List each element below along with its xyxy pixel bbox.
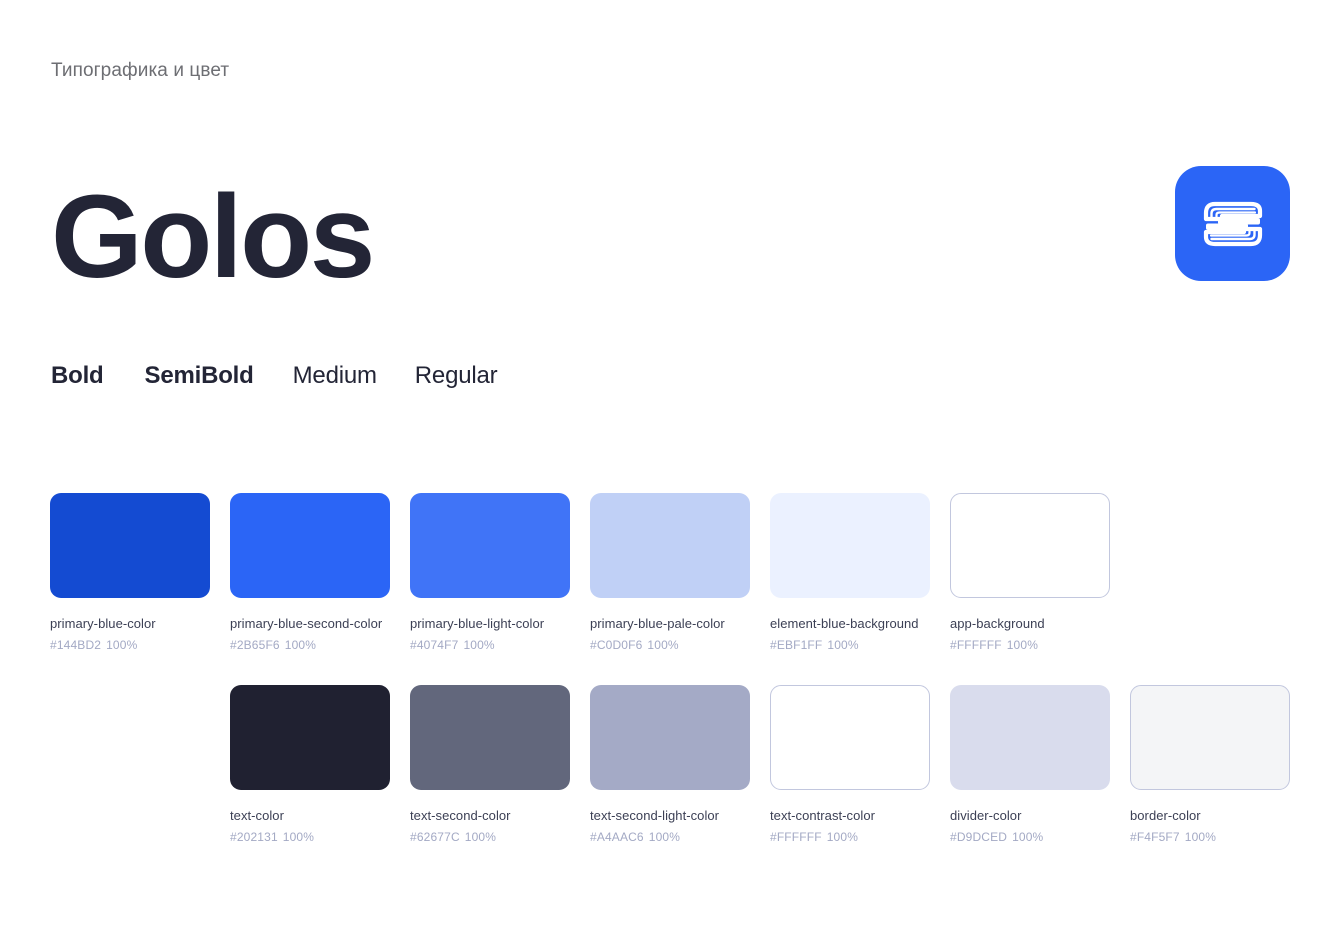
- color-swatch[interactable]: divider-color#D9DCED100%: [950, 685, 1110, 844]
- color-palette: primary-blue-color#144BD2100%primary-blu…: [0, 0, 1340, 925]
- swatch-hex-value: #FFFFFF: [770, 830, 822, 844]
- swatch-hex-and-opacity: #144BD2100%: [50, 638, 210, 652]
- swatch-opacity-value: 100%: [1007, 638, 1038, 652]
- swatch-token-name: app-background: [950, 616, 1110, 631]
- swatch-color-chip[interactable]: [590, 685, 750, 790]
- swatch-token-name: primary-blue-color: [50, 616, 210, 631]
- swatch-color-chip[interactable]: [410, 493, 570, 598]
- color-swatch[interactable]: primary-blue-color#144BD2100%: [50, 493, 210, 652]
- swatch-token-name: element-blue-background: [770, 616, 930, 631]
- swatch-hex-value: #F4F5F7: [1130, 830, 1180, 844]
- swatch-opacity-value: 100%: [465, 830, 496, 844]
- color-swatch[interactable]: text-contrast-color#FFFFFF100%: [770, 685, 930, 844]
- font-weight-regular: Regular: [415, 362, 498, 390]
- swatch-opacity-value: 100%: [647, 638, 678, 652]
- swatch-token-name: text-color: [230, 808, 390, 823]
- swatch-color-chip[interactable]: [410, 685, 570, 790]
- color-swatch[interactable]: text-second-light-color#A4AAC6100%: [590, 685, 750, 844]
- swatch-hex-value: #C0D0F6: [590, 638, 642, 652]
- swatch-color-chip[interactable]: [230, 493, 390, 598]
- swatch-opacity-value: 100%: [283, 830, 314, 844]
- swatch-hex-value: #2B65F6: [230, 638, 280, 652]
- color-swatch[interactable]: primary-blue-light-color#4074F7100%: [410, 493, 570, 652]
- swatch-hex-value: #144BD2: [50, 638, 101, 652]
- swatch-opacity-value: 100%: [1012, 830, 1043, 844]
- swatch-opacity-value: 100%: [463, 638, 494, 652]
- color-swatch[interactable]: primary-blue-pale-color#C0D0F6100%: [590, 493, 750, 652]
- swatch-token-name: primary-blue-light-color: [410, 616, 570, 631]
- swatch-hex-and-opacity: #A4AAC6100%: [590, 830, 750, 844]
- swatch-color-chip[interactable]: [950, 493, 1110, 598]
- swatch-token-name: divider-color: [950, 808, 1110, 823]
- swatch-hex-and-opacity: #EBF1FF100%: [770, 638, 930, 652]
- swatch-hex-and-opacity: #202131100%: [230, 830, 390, 844]
- swatch-hex-and-opacity: #C0D0F6100%: [590, 638, 750, 652]
- color-swatch[interactable]: border-color#F4F5F7100%: [1130, 685, 1290, 844]
- font-specimen-name: Golos: [51, 178, 373, 296]
- color-swatch[interactable]: app-background#FFFFFF100%: [950, 493, 1110, 652]
- swatch-opacity-value: 100%: [827, 830, 858, 844]
- font-weight-medium: Medium: [293, 362, 377, 390]
- swatch-opacity-value: 100%: [106, 638, 137, 652]
- swatch-token-name: text-second-color: [410, 808, 570, 823]
- swatch-color-chip[interactable]: [50, 493, 210, 598]
- swatch-hex-value: #4074F7: [410, 638, 458, 652]
- swatch-hex-and-opacity: #D9DCED100%: [950, 830, 1110, 844]
- app-logo-tile: [1175, 166, 1290, 281]
- color-swatch[interactable]: primary-blue-second-color#2B65F6100%: [230, 493, 390, 652]
- swatch-hex-and-opacity: #4074F7100%: [410, 638, 570, 652]
- swatch-opacity-value: 100%: [649, 830, 680, 844]
- swatch-color-chip[interactable]: [770, 685, 930, 790]
- swatch-hex-and-opacity: #62677C100%: [410, 830, 570, 844]
- font-weight-bold: Bold: [51, 362, 104, 390]
- swatch-color-chip[interactable]: [1130, 685, 1290, 790]
- swatch-opacity-value: 100%: [827, 638, 858, 652]
- page-title: Типографика и цвет: [51, 60, 229, 82]
- swatch-token-name: primary-blue-second-color: [230, 616, 390, 631]
- swatch-token-name: text-contrast-color: [770, 808, 930, 823]
- color-swatch[interactable]: text-second-color#62677C100%: [410, 685, 570, 844]
- swatch-hex-and-opacity: #2B65F6100%: [230, 638, 390, 652]
- swatch-token-name: text-second-light-color: [590, 808, 750, 823]
- swatch-opacity-value: 100%: [285, 638, 316, 652]
- color-swatch[interactable]: element-blue-background#EBF1FF100%: [770, 493, 930, 652]
- swatch-hex-value: #FFFFFF: [950, 638, 1002, 652]
- stacked-layers-icon: [1196, 191, 1270, 257]
- swatch-color-chip[interactable]: [590, 493, 750, 598]
- color-swatch[interactable]: text-color#202131100%: [230, 685, 390, 844]
- swatch-hex-value: #A4AAC6: [590, 830, 644, 844]
- swatch-color-chip[interactable]: [950, 685, 1110, 790]
- swatch-hex-and-opacity: #FFFFFF100%: [950, 638, 1110, 652]
- swatch-hex-value: #202131: [230, 830, 278, 844]
- font-weights-row: Bold SemiBold Medium Regular: [51, 362, 497, 390]
- swatch-hex-and-opacity: #F4F5F7100%: [1130, 830, 1290, 844]
- swatch-token-name: primary-blue-pale-color: [590, 616, 750, 631]
- swatch-hex-and-opacity: #FFFFFF100%: [770, 830, 930, 844]
- font-weight-semibold: SemiBold: [145, 362, 254, 390]
- swatch-token-name: border-color: [1130, 808, 1290, 823]
- swatch-color-chip[interactable]: [770, 493, 930, 598]
- swatch-hex-value: #D9DCED: [950, 830, 1007, 844]
- swatch-hex-value: #EBF1FF: [770, 638, 822, 652]
- swatch-hex-value: #62677C: [410, 830, 460, 844]
- swatch-opacity-value: 100%: [1185, 830, 1216, 844]
- swatch-color-chip[interactable]: [230, 685, 390, 790]
- typography-and-color-page: Типографика и цвет Golos Bold SemiBold M…: [0, 0, 1340, 925]
